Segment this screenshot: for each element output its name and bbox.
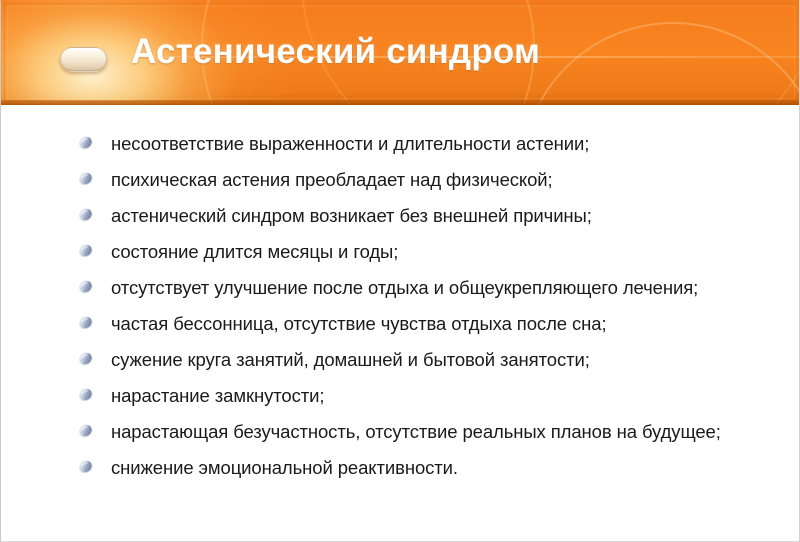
page-title: Астенический синдром (131, 30, 540, 74)
list-item: состояние длится месяцы и годы; (79, 238, 727, 265)
disc-bullet-icon (77, 387, 94, 403)
list-item-label: сужение круга занятий, домашней и бытово… (111, 349, 590, 370)
list-item: сужение круга занятий, домашней и бытово… (79, 346, 727, 373)
list-item: несоответствие выраженности и длительнос… (79, 130, 727, 157)
list-item: частая бессонница, отсутствие чувства от… (79, 310, 727, 337)
disc-bullet-icon (77, 315, 94, 331)
list-item: отсутствует улучшение после отдыха и общ… (79, 274, 727, 301)
list-item-label: состояние длится месяцы и годы; (111, 241, 398, 262)
capsule-pill-icon (60, 47, 107, 72)
list-item: психическая астения преобладает над физи… (79, 166, 727, 193)
disc-bullet-icon (77, 279, 94, 295)
disc-bullet-icon (77, 135, 94, 151)
list-item-label: снижение эмоциональной реактивности. (111, 457, 458, 478)
disc-bullet-icon (77, 243, 94, 259)
list-item-label: нарастание замкнутости; (111, 385, 324, 406)
disc-bullet-icon (77, 171, 94, 187)
disc-bullet-icon (77, 207, 94, 223)
slide-header: Астенический синдром (1, 0, 800, 105)
header-bottom-edge (1, 100, 800, 105)
list-item-label: отсутствует улучшение после отдыха и общ… (111, 277, 698, 298)
list-item: нарастание замкнутости; (79, 382, 727, 409)
list-item-label: астенический синдром возникает без внешн… (111, 205, 592, 226)
presentation-slide: Астенический синдром несоответствие выра… (0, 0, 800, 542)
list-item-label: психическая астения преобладает над физи… (111, 169, 553, 190)
disc-bullet-icon (77, 423, 94, 439)
list-item-label: частая бессонница, отсутствие чувства от… (111, 313, 606, 334)
slide-content: несоответствие выраженности и длительнос… (1, 105, 800, 542)
list-item-label: несоответствие выраженности и длительнос… (111, 133, 589, 154)
bullet-list: несоответствие выраженности и длительнос… (79, 130, 727, 481)
list-item-label: нарастающая безучастность, отсутствие ре… (111, 421, 721, 442)
list-item: снижение эмоциональной реактивности. (79, 454, 727, 481)
disc-bullet-icon (77, 459, 94, 475)
list-item: астенический синдром возникает без внешн… (79, 202, 727, 229)
list-item: нарастающая безучастность, отсутствие ре… (79, 418, 727, 445)
disc-bullet-icon (77, 351, 94, 367)
